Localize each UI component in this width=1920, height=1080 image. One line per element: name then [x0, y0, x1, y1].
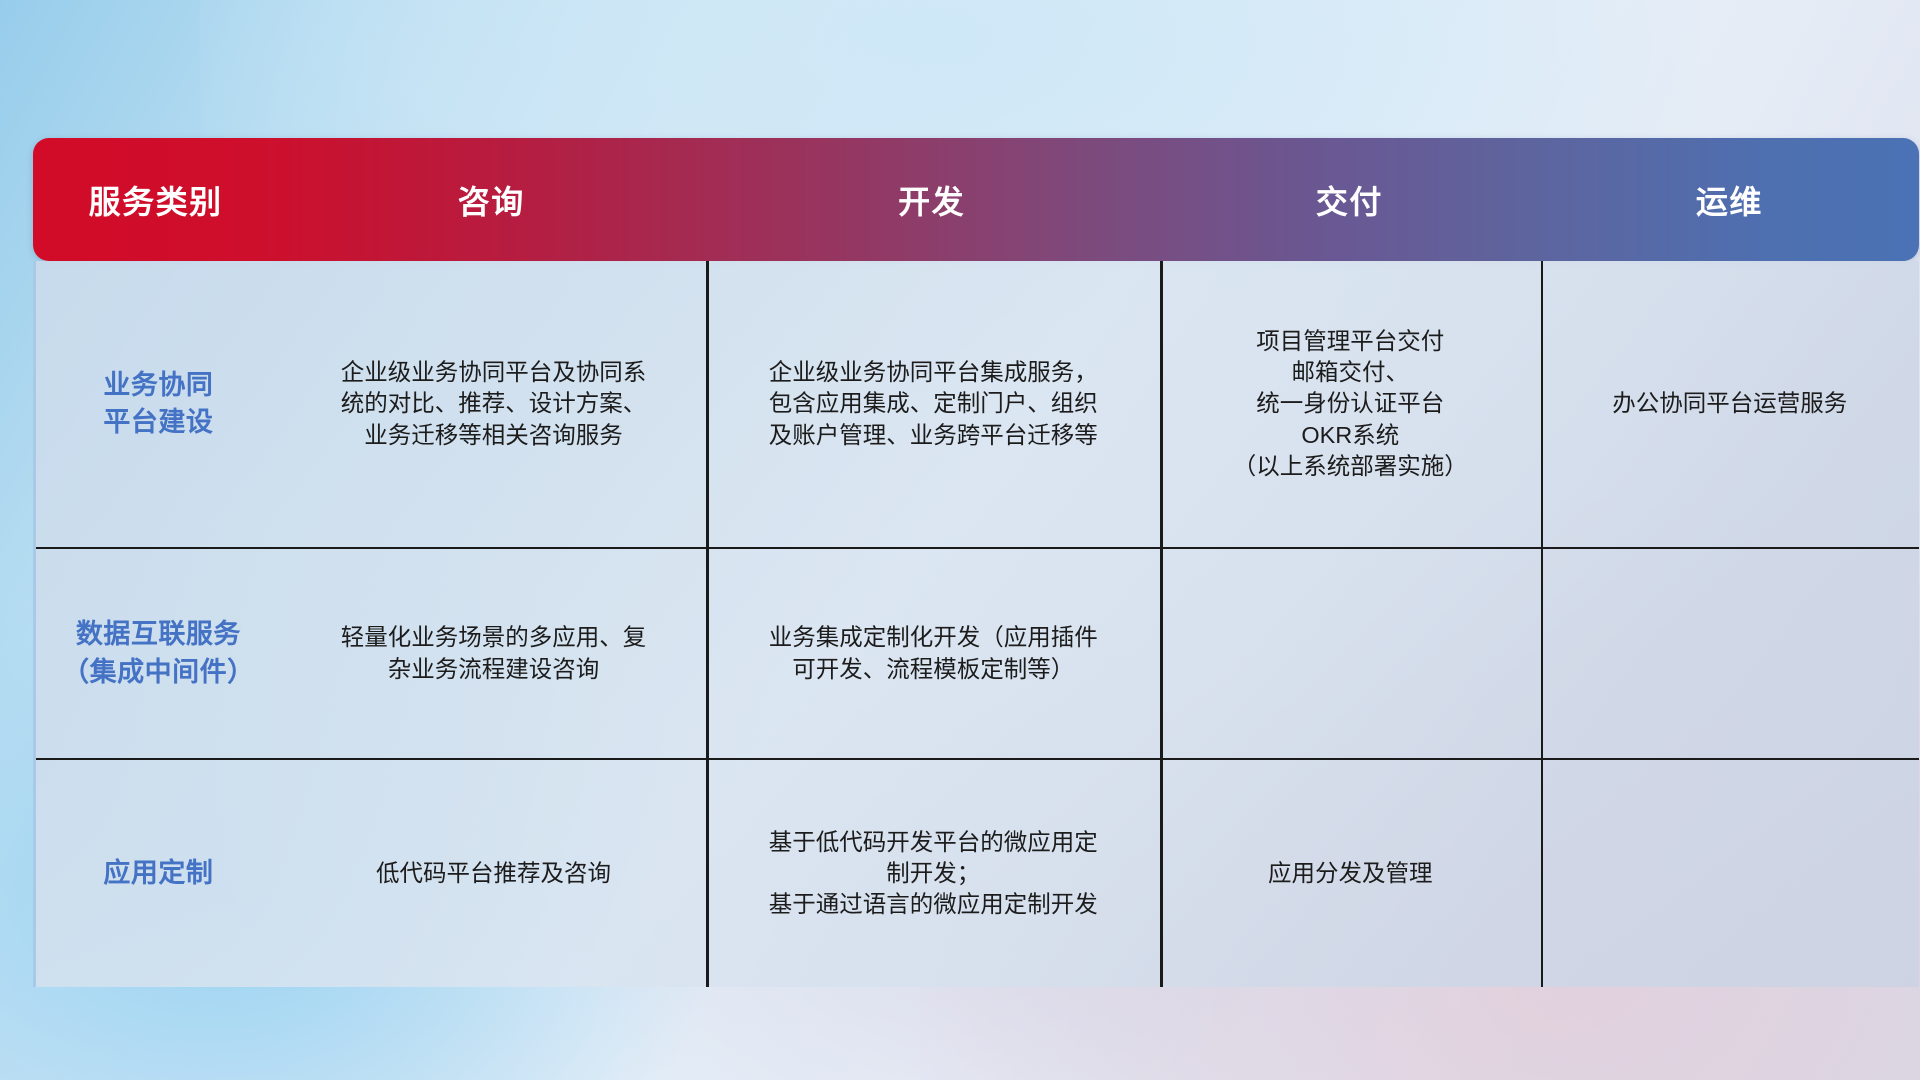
cell-operations [1540, 648, 1918, 660]
table-header-row: 服务类别 咨询 开发 交付 运维 [33, 138, 1919, 261]
cell-development: 基于低代码开发平台的微应用定 制开发； 基于通过语言的微应用定制开发 [706, 821, 1160, 927]
cell-delivery: 应用分发及管理 [1160, 852, 1540, 895]
cell-development: 企业级业务协同平台集成服务， 包含应用集成、定制门户、组织 及账户管理、业务跨平… [706, 351, 1160, 457]
row-category-label: 数据互联服务 （集成中间件） [36, 610, 281, 697]
cell-consulting: 轻量化业务场景的多应用、复 杂业务流程建设咨询 [281, 616, 707, 691]
cell-delivery: 项目管理平台交付 邮箱交付、 统一身份认证平台 OKR系统 （以上系统部署实施） [1160, 320, 1540, 488]
column-header-service-category: 服务类别 [33, 177, 278, 223]
cell-delivery [1160, 648, 1540, 660]
service-matrix-table: 服务类别 咨询 开发 交付 运维 业务协同 平台建设 企业级业务协同平台及协同系… [33, 138, 1919, 968]
column-header-delivery: 交付 [1159, 177, 1540, 223]
cell-development: 业务集成定制化开发（应用插件 可开发、流程模板定制等） [706, 616, 1160, 691]
table-row: 应用定制 低代码平台推荐及咨询 基于低代码开发平台的微应用定 制开发； 基于通过… [36, 760, 1919, 987]
cell-operations [1540, 868, 1918, 880]
column-header-operations: 运维 [1540, 177, 1919, 223]
table-row: 业务协同 平台建设 企业级业务协同平台及协同系 统的对比、推荐、设计方案、 业务… [36, 261, 1919, 549]
column-header-consulting: 咨询 [278, 177, 704, 223]
row-category-label: 业务协同 平台建设 [36, 361, 281, 448]
cell-consulting: 低代码平台推荐及咨询 [281, 852, 707, 895]
table-body: 业务协同 平台建设 企业级业务协同平台及协同系 统的对比、推荐、设计方案、 业务… [33, 261, 1919, 987]
table-row: 数据互联服务 （集成中间件） 轻量化业务场景的多应用、复 杂业务流程建设咨询 业… [36, 549, 1919, 760]
cell-consulting: 企业级业务协同平台及协同系 统的对比、推荐、设计方案、 业务迁移等相关咨询服务 [281, 351, 707, 457]
column-header-development: 开发 [704, 177, 1159, 223]
cell-operations: 办公协同平台运营服务 [1540, 382, 1918, 425]
row-category-label: 应用定制 [36, 849, 281, 898]
